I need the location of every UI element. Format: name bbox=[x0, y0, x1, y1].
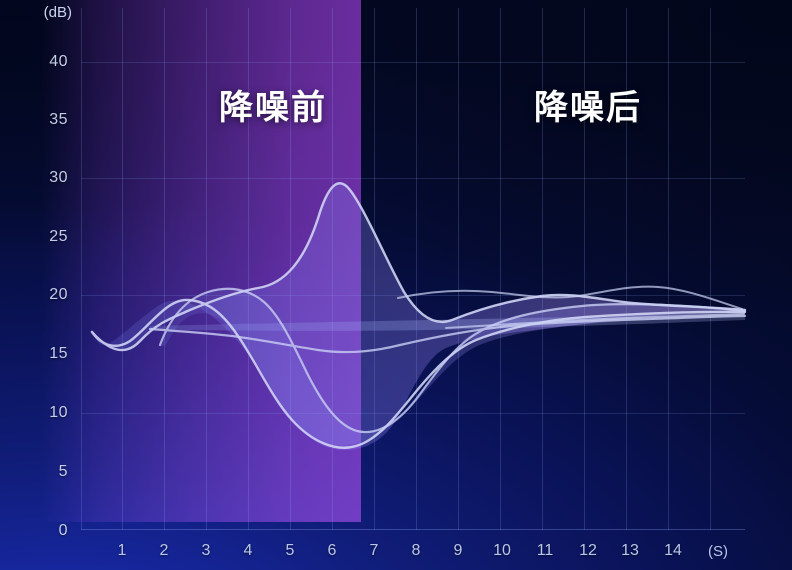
gridline-v bbox=[122, 8, 123, 530]
y-axis-unit: (dB) bbox=[44, 4, 72, 21]
x-tick-5: 5 bbox=[286, 542, 295, 560]
x-tick-13: 13 bbox=[621, 542, 639, 560]
y-tick-5: 5 bbox=[59, 463, 68, 481]
x-tick-14: 14 bbox=[664, 542, 682, 560]
axis-baseline bbox=[81, 529, 745, 530]
gridline-v bbox=[500, 8, 501, 530]
gridline-v bbox=[81, 8, 82, 530]
x-tick-11: 11 bbox=[537, 542, 554, 560]
y-axis: (dB) 40 35 30 25 20 15 10 5 0 bbox=[0, 0, 78, 570]
plot-area bbox=[81, 8, 745, 530]
x-tick-4: 4 bbox=[244, 542, 253, 560]
caption-after-noise-reduction: 降噪后 bbox=[534, 80, 642, 129]
y-tick-15: 15 bbox=[49, 345, 68, 363]
y-tick-20: 20 bbox=[49, 286, 68, 304]
gridline-v bbox=[668, 8, 669, 530]
gridline-v bbox=[416, 8, 417, 530]
x-tick-12: 12 bbox=[579, 542, 597, 560]
caption-before-noise-reduction: 降噪前 bbox=[219, 80, 327, 129]
y-tick-10: 10 bbox=[49, 404, 68, 422]
gridline-h bbox=[81, 62, 745, 63]
gridline-h bbox=[81, 413, 745, 414]
y-tick-35: 35 bbox=[49, 111, 68, 129]
y-tick-40: 40 bbox=[49, 53, 68, 71]
x-tick-3: 3 bbox=[202, 542, 211, 560]
y-tick-30: 30 bbox=[49, 169, 68, 187]
y-tick-25: 25 bbox=[49, 228, 68, 246]
gridline-v bbox=[206, 8, 207, 530]
gridline-h bbox=[81, 178, 745, 179]
x-tick-2: 2 bbox=[160, 542, 169, 560]
x-tick-9: 9 bbox=[454, 542, 463, 560]
y-tick-0: 0 bbox=[59, 522, 68, 540]
x-tick-6: 6 bbox=[328, 542, 337, 560]
x-tick-7: 7 bbox=[370, 542, 379, 560]
gridline-v bbox=[374, 8, 375, 530]
x-tick-8: 8 bbox=[412, 542, 421, 560]
gridline-v bbox=[164, 8, 165, 530]
gridline-v bbox=[332, 8, 333, 530]
gridline-v bbox=[710, 8, 711, 530]
gridline-v bbox=[458, 8, 459, 530]
x-tick-10: 10 bbox=[493, 542, 511, 560]
x-tick-1: 1 bbox=[118, 542, 127, 560]
x-axis-unit: (S) bbox=[708, 543, 728, 560]
gridline-h bbox=[81, 295, 745, 296]
noise-reduction-chart: (dB) 40 35 30 25 20 15 10 5 0 1 2 3 4 5 … bbox=[0, 0, 792, 570]
